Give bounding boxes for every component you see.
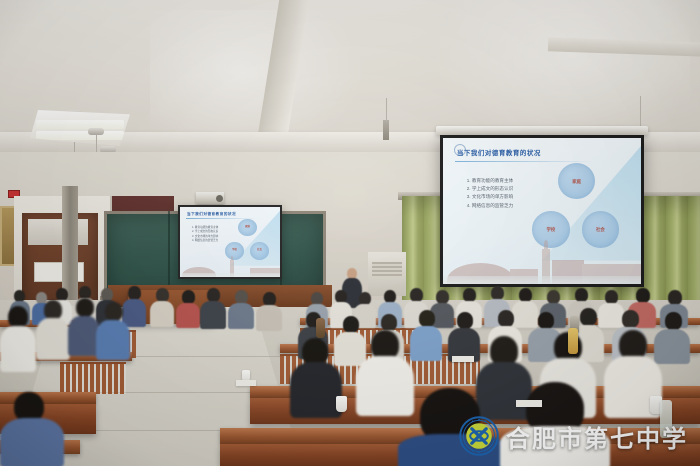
audience-member-foreground — [0, 306, 36, 370]
handout-paper — [236, 380, 256, 386]
slide-bullet-1: 1. 教育功能的教育主体 — [467, 177, 513, 185]
slide-content-secondary: 当下我们对德育教育的状况 1. 教育功能的教育主体 2. 学上成文的形态认识 3… — [180, 207, 280, 277]
bench-backrest — [60, 362, 126, 394]
audience-member — [150, 288, 174, 326]
screen-hanging-wire — [640, 96, 641, 128]
audience-member — [228, 290, 254, 328]
handout-paper — [452, 356, 474, 362]
slide-bullet-4: 4. 网络信息的监管乏力 — [467, 202, 513, 210]
projection-screen-housing — [436, 126, 648, 135]
slide-bullet-list-secondary: 1. 教育功能的教育主体 2. 学上成文的形态认识 3. 文化市场的单方影响 4… — [192, 226, 218, 244]
slide-campus-building-image-secondary — [180, 259, 280, 277]
main-projection-screen: 当下我们对德育教育的状况 1. 教育功能的教育主体 2. 学上成文的形态认识 3… — [440, 135, 644, 287]
slide-circle-family-secondary: 家庭 — [238, 219, 257, 237]
slide-circle-society: 社会 — [582, 211, 620, 248]
slide-bullet-list: 1. 教育功能的教育主体 2. 学上成文的形态认识 3. 文化市场的单方影响 4… — [467, 177, 513, 209]
secondary-projection-screen: 当下我们对德育教育的状况 1. 教育功能的教育主体 2. 学上成文的形态认识 3… — [178, 205, 282, 279]
audience-member-foreground — [500, 382, 610, 466]
slide-circle-society-secondary: 社会 — [250, 242, 269, 260]
ceiling-hook-wire — [386, 98, 387, 122]
ceiling-hook — [383, 120, 389, 140]
slide-content-main: 当下我们对德育教育的状况 1. 教育功能的教育主体 2. 学上成文的形态认识 3… — [443, 138, 641, 284]
water-bottle — [568, 328, 578, 354]
slide-campus-building-image — [443, 246, 641, 284]
slide-circle-family: 家庭 — [558, 163, 596, 200]
door-window — [27, 218, 89, 246]
slide-circle-school: 学校 — [532, 211, 570, 248]
air-conditioner-vent — [372, 262, 402, 278]
slide-bullet-4-secondary: 4. 网络信息的监管乏力 — [192, 239, 218, 244]
water-bottle — [660, 400, 672, 438]
audience-member-foreground — [398, 388, 508, 466]
audience-member-foreground — [96, 302, 130, 358]
handout-paper — [516, 400, 542, 407]
thermos-bottle — [316, 318, 325, 338]
audience-member — [200, 288, 226, 328]
slide-title-underline — [455, 161, 594, 162]
slide-title-secondary: 当下我们对德育教育的状况 — [187, 212, 236, 217]
slide-bullet-3: 3. 文化市场的单方影响 — [467, 193, 513, 201]
lecture-hall-photo: 当下我们对德育教育的状况 1. 教育功能的教育主体 2. 学上成文的形态认识 3… — [0, 0, 700, 466]
slide-circle-school-secondary: 学校 — [225, 242, 244, 260]
audience-member-foreground — [290, 338, 342, 416]
audience-member — [176, 290, 200, 326]
projector-lens-icon — [216, 195, 223, 202]
audience-member-foreground — [36, 300, 70, 358]
audience-member-foreground — [0, 392, 64, 466]
audience-member — [410, 310, 442, 358]
audience-member — [256, 292, 282, 330]
slide-bullet-2: 2. 学上成文的形态认识 — [467, 185, 513, 193]
slide-title: 当下我们对德育教育的状况 — [457, 147, 541, 157]
paper-cup — [336, 396, 347, 412]
